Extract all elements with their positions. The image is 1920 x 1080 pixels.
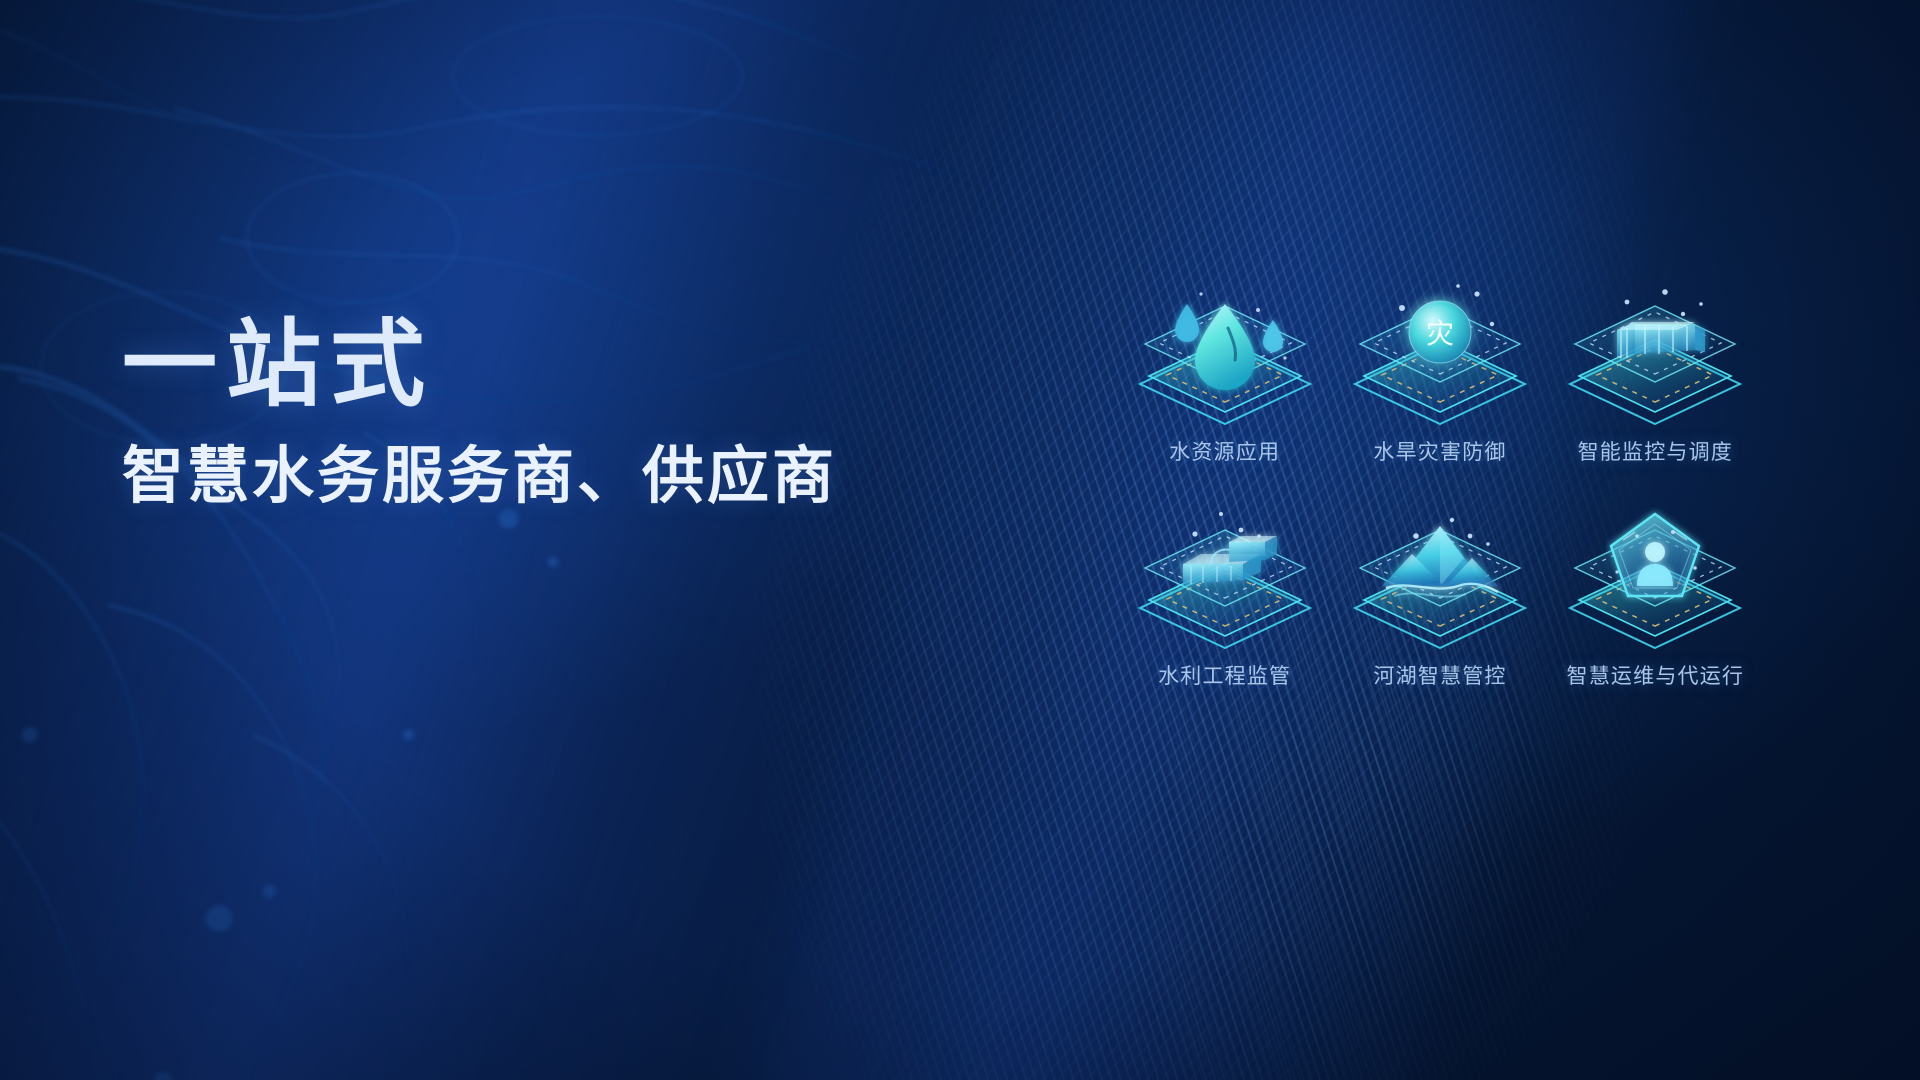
service-item-smart-dispatch[interactable]: 智能监控与调度 [1551, 268, 1760, 492]
hero-copy: 一站式 智慧水务服务商、供应商 [122, 316, 942, 511]
water-river-texture [0, 0, 998, 1080]
water-drop-icon [1125, 268, 1325, 434]
service-label: 智慧运维与代运行 [1567, 660, 1745, 690]
river-mountain-icon [1340, 492, 1540, 658]
service-label: 水旱灾害防御 [1373, 436, 1506, 466]
service-label: 水资源应用 [1169, 436, 1280, 466]
page-title: 一站式 [122, 316, 942, 416]
service-label: 智能监控与调度 [1578, 436, 1733, 466]
service-item-flood-drought[interactable]: 灾 水旱灾害防御 [1335, 268, 1544, 492]
banner-stage: 一站式 智慧水务服务商、供应商 [0, 0, 1920, 1080]
ops-pentagon-icon [1555, 492, 1755, 658]
service-item-hydro-supervision[interactable]: 水利工程监管 [1120, 492, 1329, 716]
disaster-shield-icon: 灾 [1340, 268, 1540, 434]
service-item-river-lake[interactable]: 河湖智慧管控 [1335, 492, 1544, 716]
service-label: 河湖智慧管控 [1373, 660, 1506, 690]
service-item-water-resource[interactable]: 水资源应用 [1120, 268, 1329, 492]
diagonal-light-band [0, 0, 1217, 1080]
disaster-badge-text: 灾 [1426, 318, 1454, 349]
service-item-smart-ops[interactable]: 智慧运维与代运行 [1551, 492, 1760, 716]
service-label: 水利工程监管 [1158, 660, 1291, 690]
service-grid: 水资源应用 灾 水旱灾害防御 [1120, 268, 1760, 716]
page-subtitle: 智慧水务服务商、供应商 [122, 442, 942, 511]
hydro-facility-icon [1125, 492, 1325, 658]
dam-monitor-icon [1555, 268, 1755, 434]
